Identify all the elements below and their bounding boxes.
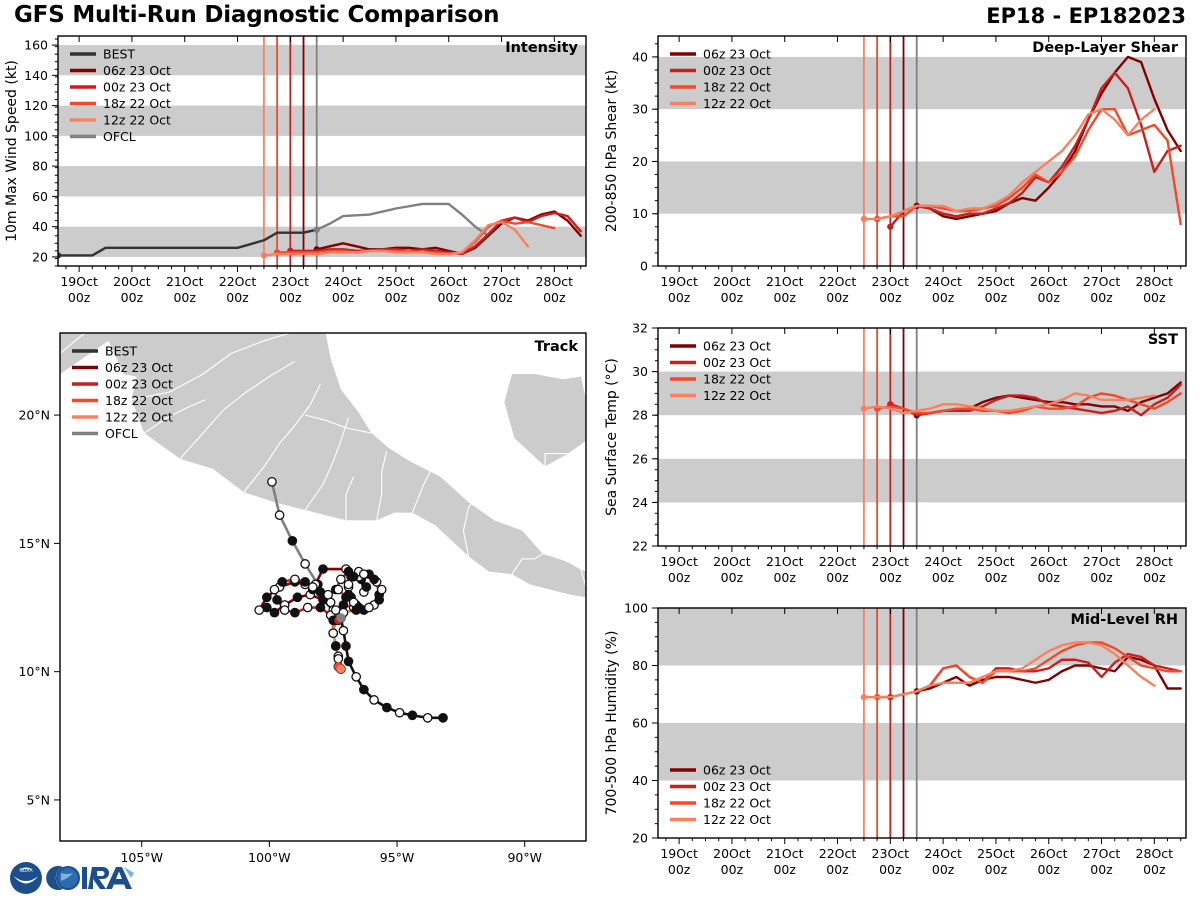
track-point-marker xyxy=(383,703,391,711)
track-point-marker xyxy=(309,583,317,591)
series-start-marker xyxy=(887,224,893,230)
x-tick-label-hour: 00z xyxy=(985,862,1008,877)
legend-label: 06z 23 Oct xyxy=(703,339,771,354)
track-point-marker xyxy=(270,585,278,593)
track-point-marker xyxy=(334,655,342,663)
page-title: GFS Multi-Run Diagnostic Comparison xyxy=(14,2,499,28)
x-tick-label: 21Oct xyxy=(766,554,804,569)
y-tick-label: 32 xyxy=(632,321,648,336)
panel-title: Deep-Layer Shear xyxy=(1032,40,1179,56)
y-axis-label: 10m Max Wind Speed (kt) xyxy=(4,60,20,242)
legend-label: BEST xyxy=(105,344,137,359)
x-tick-label-hour: 00z xyxy=(1090,862,1113,877)
track-point-marker xyxy=(360,570,368,578)
track-point-marker xyxy=(293,593,301,601)
x-tick-label-hour: 00z xyxy=(1037,862,1060,877)
x-tick-label: 26Oct xyxy=(1030,554,1068,569)
track-point-marker xyxy=(370,696,378,704)
x-tick-label: 20Oct xyxy=(713,554,751,569)
track-point-marker xyxy=(344,657,352,665)
x-tick-label-hour: 00z xyxy=(668,862,691,877)
x-tick-label: 23Oct xyxy=(872,554,910,569)
x-tick-label-hour: 00z xyxy=(668,570,691,585)
x-tick-label: 24Oct xyxy=(324,274,362,289)
y-tick-label: 10 xyxy=(632,206,648,221)
track-point-marker xyxy=(334,585,342,593)
y-tick-label: 120 xyxy=(24,98,48,113)
x-tick-label-hour: 00z xyxy=(879,570,902,585)
x-tick-label: 19Oct xyxy=(660,846,698,861)
track-point-marker xyxy=(344,580,352,588)
track-point-marker xyxy=(337,575,345,583)
y-tick-label: 40 xyxy=(632,49,648,64)
y-axis-label: 700-500 hPa Humidity (%) xyxy=(604,631,620,816)
lat-tick-label: 10°N xyxy=(18,664,50,679)
y-tick-label: 28 xyxy=(632,408,648,423)
x-tick-label-hour: 00z xyxy=(437,290,460,305)
legend-label: 00z 23 Oct xyxy=(703,63,771,78)
x-tick-label: 25Oct xyxy=(977,554,1015,569)
track-point-marker xyxy=(408,711,416,719)
x-tick-label-hour: 00z xyxy=(826,290,849,305)
x-tick-label: 27Oct xyxy=(483,274,521,289)
x-tick-label-hour: 00z xyxy=(932,570,955,585)
track-point-marker xyxy=(319,565,327,573)
cira-wordmark xyxy=(46,866,134,890)
legend-label: OFCL xyxy=(105,426,138,441)
series-start-marker xyxy=(314,226,320,232)
x-tick-label-hour: 00z xyxy=(721,570,744,585)
legend-label: OFCL xyxy=(103,129,136,144)
x-tick-label-hour: 00z xyxy=(1037,570,1060,585)
y-tick-label: 26 xyxy=(632,451,648,466)
y-tick-label: 20 xyxy=(32,249,48,264)
legend-label: 18z 22 Oct xyxy=(103,96,171,111)
track-point-marker xyxy=(303,603,311,611)
y-tick-label: 22 xyxy=(632,539,648,554)
x-tick-label-hour: 00z xyxy=(773,862,796,877)
track-point-marker xyxy=(329,629,337,637)
track-point-marker xyxy=(370,575,378,583)
track-point-marker xyxy=(344,590,352,598)
track-point-marker xyxy=(324,590,332,598)
x-tick-label: 22Oct xyxy=(819,274,857,289)
y-tick-label: 100 xyxy=(24,128,48,143)
legend-label: 06z 23 Oct xyxy=(703,47,771,62)
x-tick-label: 24Oct xyxy=(924,274,962,289)
y-tick-label: 60 xyxy=(632,716,648,731)
x-tick-label: 27Oct xyxy=(1083,274,1121,289)
x-tick-label-hour: 00z xyxy=(773,290,796,305)
x-tick-label-hour: 00z xyxy=(385,290,408,305)
track-point-marker xyxy=(280,606,288,614)
x-tick-label: 28Oct xyxy=(1136,846,1174,861)
lon-tick-label: 95°W xyxy=(380,850,415,865)
legend-label: 00z 23 Oct xyxy=(703,355,771,370)
y-tick-label: 30 xyxy=(632,364,648,379)
x-tick-label: 21Oct xyxy=(166,274,204,289)
lat-tick-label: 5°N xyxy=(26,792,50,807)
x-tick-label-hour: 00z xyxy=(826,570,849,585)
panel-title: Intensity xyxy=(505,40,578,56)
track-point-marker xyxy=(255,606,263,614)
track-point-marker xyxy=(439,714,447,722)
legend-label: 18z 22 Oct xyxy=(703,796,771,811)
x-tick-label: 28Oct xyxy=(1136,274,1174,289)
track-point-marker xyxy=(301,578,309,586)
y-tick-label: 40 xyxy=(32,219,48,234)
x-tick-label: 26Oct xyxy=(1030,846,1068,861)
y-tick-label: 0 xyxy=(640,259,648,274)
series-start-marker xyxy=(861,216,867,222)
x-tick-label: 27Oct xyxy=(1083,846,1121,861)
y-axis-label: Sea Surface Temp (°C) xyxy=(604,358,620,516)
track-point-marker xyxy=(268,478,276,486)
x-tick-label: 23Oct xyxy=(272,274,310,289)
track-point-marker xyxy=(342,642,350,650)
sst-panel: 19Oct00z20Oct00z21Oct00z22Oct00z23Oct00z… xyxy=(600,320,1200,598)
x-tick-label-hour: 00z xyxy=(543,290,566,305)
legend-label: 00z 23 Oct xyxy=(105,377,173,392)
track-point-marker xyxy=(352,673,360,681)
x-tick-label-hour: 00z xyxy=(68,290,91,305)
legend-label: 12z 22 Oct xyxy=(103,113,171,128)
x-tick-label: 28Oct xyxy=(1136,554,1174,569)
x-tick-label: 22Oct xyxy=(819,846,857,861)
x-tick-label: 22Oct xyxy=(219,274,257,289)
x-tick-label: 26Oct xyxy=(1030,274,1068,289)
legend-label: 06z 23 Oct xyxy=(103,63,171,78)
track-point-marker xyxy=(362,583,370,591)
ofcl-start-marker xyxy=(336,613,345,622)
legend-label: 18z 22 Oct xyxy=(703,80,771,95)
noaa-cira-logo: NOAA xyxy=(6,858,138,898)
y-tick-label: 80 xyxy=(632,658,648,673)
legend-label: 12z 22 Oct xyxy=(105,410,173,425)
track-point-marker xyxy=(395,709,403,717)
track-point-marker xyxy=(375,596,383,604)
track-point-marker xyxy=(291,608,299,616)
legend-label: BEST xyxy=(103,47,135,62)
x-tick-label-hour: 00z xyxy=(879,862,902,877)
x-tick-label: 26Oct xyxy=(430,274,468,289)
x-tick-label-hour: 00z xyxy=(985,290,1008,305)
x-tick-label-hour: 00z xyxy=(879,290,902,305)
legend-label: 06z 23 Oct xyxy=(105,360,173,375)
x-tick-label-hour: 00z xyxy=(668,290,691,305)
y-tick-label: 140 xyxy=(24,68,48,83)
y-tick-label: 20 xyxy=(632,154,648,169)
series-start-marker xyxy=(261,252,267,258)
track-point-marker xyxy=(270,608,278,616)
track-point-marker xyxy=(360,685,368,693)
x-tick-label-hour: 00z xyxy=(490,290,513,305)
track-point-marker xyxy=(278,578,286,586)
x-tick-label: 19Oct xyxy=(660,274,698,289)
lon-tick-label: 90°W xyxy=(507,850,542,865)
legend-label: 06z 23 Oct xyxy=(703,763,771,778)
track-start-marker xyxy=(337,665,345,673)
x-tick-label: 22Oct xyxy=(819,554,857,569)
x-tick-label: 23Oct xyxy=(872,274,910,289)
lat-tick-label: 15°N xyxy=(18,536,50,551)
x-tick-label: 20Oct xyxy=(113,274,151,289)
y-axis-label: 200-850 hPa Shear (kt) xyxy=(604,70,620,232)
x-tick-label-hour: 00z xyxy=(773,570,796,585)
x-tick-label-hour: 00z xyxy=(721,290,744,305)
x-tick-label-hour: 00z xyxy=(932,290,955,305)
track-point-marker xyxy=(301,560,309,568)
legend-label: 00z 23 Oct xyxy=(703,779,771,794)
x-tick-label-hour: 00z xyxy=(1090,570,1113,585)
track-point-marker xyxy=(423,714,431,722)
y-tick-label: 60 xyxy=(32,189,48,204)
x-tick-label: 20Oct xyxy=(713,846,751,861)
panel-title: Track xyxy=(535,339,579,355)
legend-label: 12z 22 Oct xyxy=(703,388,771,403)
x-tick-label-hour: 00z xyxy=(121,290,144,305)
x-tick-label-hour: 00z xyxy=(226,290,249,305)
x-tick-label-hour: 00z xyxy=(1143,862,1166,877)
panel-title: SST xyxy=(1148,332,1178,348)
intensity-panel: 19Oct00z20Oct00z21Oct00z22Oct00z23Oct00z… xyxy=(0,28,600,318)
x-tick-label-hour: 00z xyxy=(1143,290,1166,305)
y-tick-label: 30 xyxy=(632,102,648,117)
svg-text:NOAA: NOAA xyxy=(19,868,33,874)
x-tick-label-hour: 00z xyxy=(721,862,744,877)
series-start-marker xyxy=(861,405,867,411)
x-tick-label-hour: 00z xyxy=(332,290,355,305)
x-tick-label: 25Oct xyxy=(977,846,1015,861)
y-tick-label: 80 xyxy=(32,159,48,174)
x-tick-label: 28Oct xyxy=(536,274,574,289)
x-tick-label-hour: 00z xyxy=(279,290,302,305)
x-tick-label: 19Oct xyxy=(60,274,98,289)
legend-label: 00z 23 Oct xyxy=(103,80,171,95)
shear-panel: 19Oct00z20Oct00z21Oct00z22Oct00z23Oct00z… xyxy=(600,28,1200,318)
legend-label: 12z 22 Oct xyxy=(703,812,771,827)
x-tick-label-hour: 00z xyxy=(932,862,955,877)
legend-label: 12z 22 Oct xyxy=(703,96,771,111)
x-tick-label: 25Oct xyxy=(377,274,415,289)
rh-panel: 19Oct00z20Oct00z21Oct00z22Oct00z23Oct00z… xyxy=(600,600,1200,890)
track-point-marker xyxy=(273,596,281,604)
track-point-marker xyxy=(332,642,340,650)
track-panel: 105°W100°W95°W90°W5°N10°N15°N20°NTrackBE… xyxy=(0,325,600,885)
x-tick-label: 24Oct xyxy=(924,846,962,861)
track-point-marker xyxy=(263,593,271,601)
x-tick-label-hour: 00z xyxy=(1090,290,1113,305)
series-start-marker xyxy=(861,694,867,700)
y-tick-label: 40 xyxy=(632,773,648,788)
x-tick-label-hour: 00z xyxy=(1037,290,1060,305)
noaa-seal-icon: NOAA xyxy=(10,862,42,894)
track-point-marker xyxy=(291,575,299,583)
x-tick-label: 19Oct xyxy=(660,554,698,569)
x-tick-label: 20Oct xyxy=(713,274,751,289)
x-tick-label: 27Oct xyxy=(1083,554,1121,569)
track-point-marker xyxy=(365,603,373,611)
track-point-marker xyxy=(349,573,357,581)
x-tick-label: 25Oct xyxy=(977,274,1015,289)
track-point-marker xyxy=(316,603,324,611)
x-tick-label: 21Oct xyxy=(766,846,804,861)
x-tick-label: 23Oct xyxy=(872,846,910,861)
y-tick-label: 20 xyxy=(632,831,648,846)
lat-tick-label: 20°N xyxy=(18,408,50,423)
legend-label: 18z 22 Oct xyxy=(703,372,771,387)
track-point-marker xyxy=(339,626,347,634)
lon-tick-label: 100°W xyxy=(248,850,290,865)
x-tick-label-hour: 00z xyxy=(985,570,1008,585)
x-tick-label-hour: 00z xyxy=(173,290,196,305)
y-tick-label: 160 xyxy=(24,38,48,53)
track-point-marker xyxy=(288,537,296,545)
track-point-marker xyxy=(355,603,363,611)
x-tick-label: 21Oct xyxy=(766,274,804,289)
x-tick-label-hour: 00z xyxy=(826,862,849,877)
storm-id-title: EP18 - EP182023 xyxy=(986,4,1186,28)
y-tick-label: 100 xyxy=(624,601,648,616)
legend-label: 18z 22 Oct xyxy=(105,393,173,408)
y-tick-label: 24 xyxy=(632,495,648,510)
x-tick-label-hour: 00z xyxy=(1143,570,1166,585)
x-tick-label: 24Oct xyxy=(924,554,962,569)
track-point-marker xyxy=(275,511,283,519)
track-point-marker xyxy=(378,585,386,593)
panel-title: Mid-Level RH xyxy=(1071,612,1178,628)
